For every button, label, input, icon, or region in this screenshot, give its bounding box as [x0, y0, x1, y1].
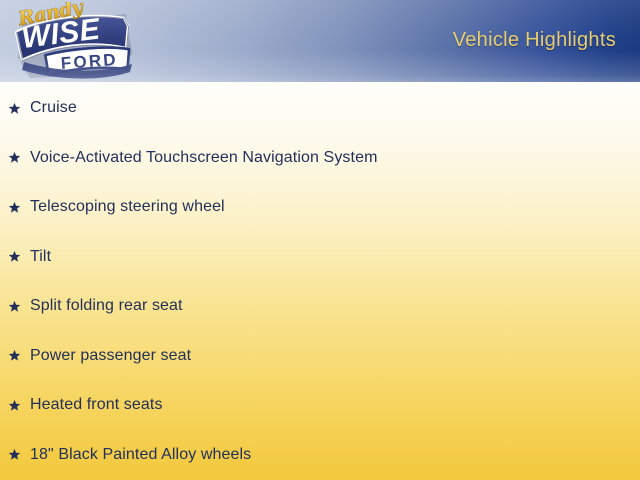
star-icon: [8, 448, 21, 461]
star-icon: [8, 102, 21, 115]
list-item: Telescoping steering wheel: [8, 194, 225, 220]
list-item: Split folding rear seat: [8, 293, 183, 319]
list-item: Cruise: [8, 95, 77, 121]
list-item: Tilt: [8, 244, 51, 270]
list-item: 18" Black Painted Alloy wheels: [8, 442, 251, 468]
star-icon: [8, 399, 21, 412]
star-icon: [8, 250, 21, 263]
list-item-label: Tilt: [30, 247, 51, 267]
list-item: Voice-Activated Touchscreen Navigation S…: [8, 145, 378, 171]
list-item-label: 18" Black Painted Alloy wheels: [30, 445, 251, 465]
list-item-label: Telescoping steering wheel: [30, 197, 225, 217]
list-item-label: Cruise: [30, 98, 77, 118]
star-icon: [8, 349, 21, 362]
list-item-label: Split folding rear seat: [30, 296, 183, 316]
star-icon: [8, 201, 21, 214]
list-item-label: Power passenger seat: [30, 346, 191, 366]
star-icon: [8, 151, 21, 164]
list-item-label: Voice-Activated Touchscreen Navigation S…: [30, 148, 378, 168]
list-item: Heated front seats: [8, 392, 163, 418]
page-title: Vehicle Highlights: [453, 29, 616, 52]
highlights-panel: CruiseVoice-Activated Touchscreen Naviga…: [0, 82, 640, 480]
list-item: Power passenger seat: [8, 343, 191, 369]
star-icon: [8, 300, 21, 313]
page-header: WISE Randy FORD Vehicle Highlights: [0, 0, 640, 82]
vehicle-highlights-page: WISE Randy FORD Vehicle Highlights Cruis…: [0, 0, 640, 480]
list-item-label: Heated front seats: [30, 395, 163, 415]
randy-wise-ford-logo[interactable]: WISE Randy FORD: [6, 2, 138, 82]
